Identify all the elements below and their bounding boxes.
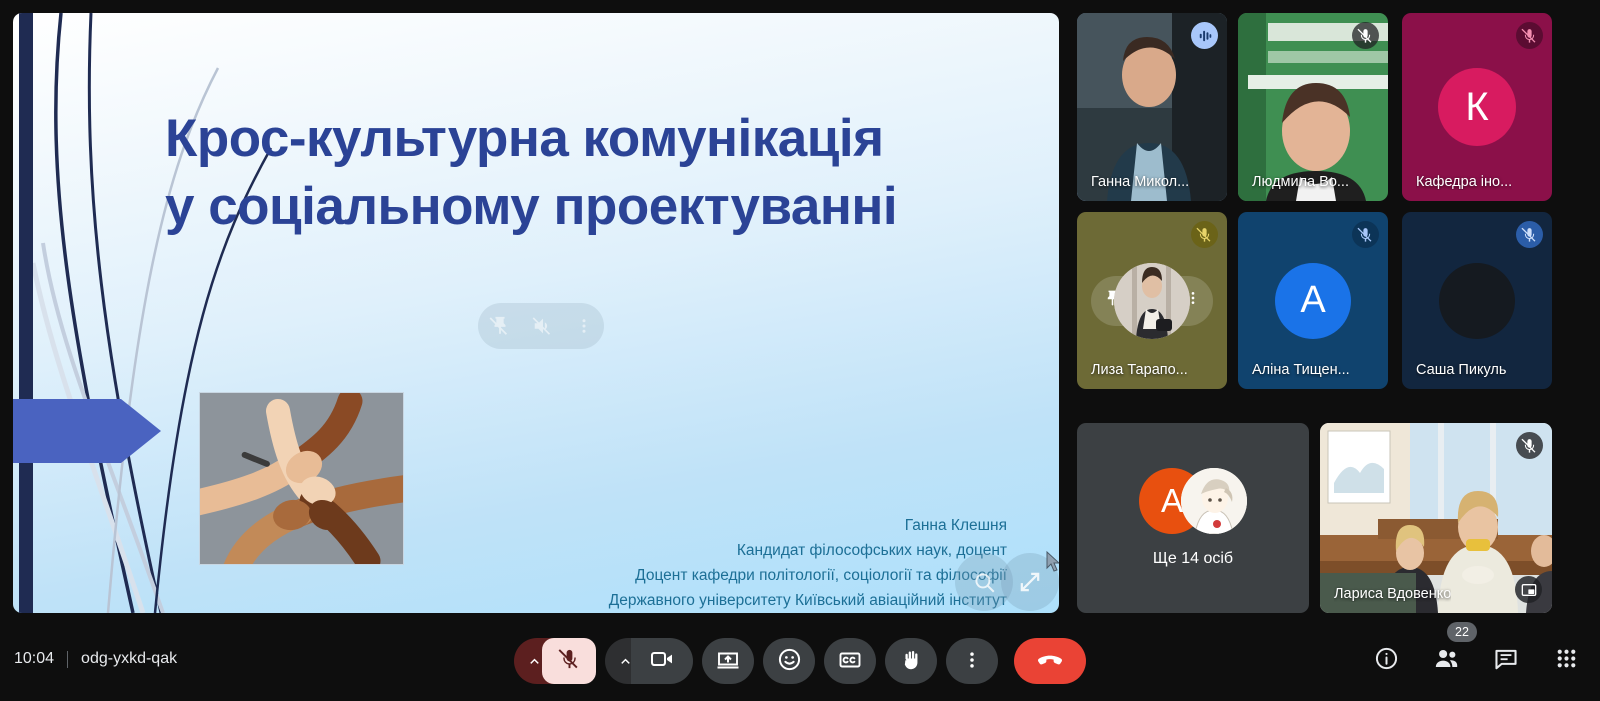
present-screen-icon (716, 648, 740, 675)
picture-in-picture-icon[interactable] (1515, 576, 1542, 603)
participant-name: Кафедра іно... (1416, 174, 1512, 190)
avatar: К (1438, 68, 1516, 146)
mic-off-icon (1352, 22, 1379, 49)
byline-line-2: Кандидат філософських наук, доцент (447, 538, 1007, 563)
participant-tile[interactable]: К Кафедра іно... (1402, 13, 1552, 201)
overflow-label: Ще 14 осіб (1153, 550, 1233, 568)
participant-tile[interactable]: Саша Пикуль (1402, 212, 1552, 389)
byline-line-1: Ганна Клешня (447, 513, 1007, 538)
participant-tile[interactable]: Ганна Микол... (1077, 13, 1227, 201)
present-screen-button[interactable] (702, 638, 754, 684)
camera-control-group[interactable] (605, 638, 693, 684)
bottom-right-icons: 22 (1370, 645, 1582, 677)
google-meet-window: Крос-культурна комунікація у соціальному… (0, 0, 1600, 701)
shared-screen-stage[interactable]: Крос-культурна комунікація у соціальному… (13, 13, 1059, 613)
participant-name: Людмила Во... (1252, 174, 1349, 190)
participant-tile[interactable]: Лиза Тарапо... (1077, 212, 1227, 389)
avatar-letter: К (1465, 85, 1488, 130)
more-options-button[interactable] (946, 638, 998, 684)
raise-hand-button[interactable] (885, 638, 937, 684)
avatar (1439, 263, 1515, 339)
video-camera-icon (650, 647, 674, 676)
audio-level-icon (1191, 22, 1218, 49)
meeting-details-button[interactable] (1370, 645, 1402, 677)
call-controls (514, 638, 1086, 684)
bottom-control-bar: 10:04 odg-yxkd-qak (0, 621, 1600, 701)
microphone-control-group[interactable] (514, 638, 596, 684)
avatar-letter: А (1300, 279, 1325, 322)
captions-button[interactable] (824, 638, 876, 684)
participant-name: Лариса Вдовенко (1334, 586, 1451, 602)
participant-name: Лиза Тарапо... (1091, 362, 1188, 378)
info-icon (1374, 646, 1399, 676)
activities-button[interactable] (1550, 645, 1582, 677)
slide-byline: Ганна Клешня Кандидат філософських наук,… (447, 513, 1007, 613)
slide-left-bar (19, 13, 33, 613)
mic-off-icon (1191, 221, 1218, 248)
overflow-avatars: А (1139, 468, 1247, 534)
participant-name: Аліна Тищен... (1252, 362, 1350, 378)
microphone-toggle-button[interactable] (542, 638, 596, 684)
byline-line-4: Державного університету Київський авіаці… (447, 588, 1007, 613)
participant-tile[interactable]: А Аліна Тищен... (1238, 212, 1388, 389)
mic-off-icon (1516, 22, 1543, 49)
emoji-reaction-icon (777, 647, 802, 675)
chat-icon (1493, 646, 1519, 677)
avatar-letter: А (1161, 482, 1183, 520)
more-vert-icon (962, 650, 982, 673)
closed-captions-icon (838, 648, 862, 675)
slide-arrow-shape (13, 395, 163, 467)
camera-toggle-button[interactable] (631, 638, 693, 684)
people-panel-button[interactable]: 22 (1430, 645, 1462, 677)
participant-tile[interactable]: Лариса Вдовенко (1320, 423, 1552, 613)
mouse-cursor (1046, 551, 1059, 573)
participant-count-badge: 22 (1447, 622, 1477, 642)
meeting-time: 10:04 (14, 650, 54, 668)
participant-filmstrip: Ганна Микол... Людмила (1073, 13, 1588, 613)
pin-off-icon[interactable] (489, 315, 511, 337)
overflow-participants-tile[interactable]: А Ще 14 осіб (1077, 423, 1309, 613)
divider (67, 651, 68, 668)
byline-line-3: Доцент кафедри політології, соціології т… (447, 563, 1007, 588)
mic-off-icon (1516, 432, 1543, 459)
end-call-button[interactable] (1014, 638, 1086, 684)
people-icon (1433, 645, 1460, 677)
emoji-reaction-button[interactable] (763, 638, 815, 684)
hands-photo (199, 392, 404, 565)
mic-off-icon (558, 647, 581, 675)
mic-off-icon (1516, 221, 1543, 248)
slide-title-line-2: у соціальному проектуванні (165, 173, 995, 241)
slide-title: Крос-культурна комунікація у соціальному… (165, 105, 995, 241)
participant-name: Ганна Микол... (1091, 174, 1189, 190)
meeting-code: odg-yxkd-qak (81, 650, 177, 668)
participant-tile[interactable]: Людмила Во... (1238, 13, 1388, 201)
participant-name: Саша Пикуль (1416, 362, 1506, 378)
slide-title-line-1: Крос-культурна комунікація (165, 105, 995, 173)
avatar (1181, 468, 1247, 534)
mic-off-icon (1352, 221, 1379, 248)
meeting-info: 10:04 odg-yxkd-qak (14, 650, 177, 668)
chat-panel-button[interactable] (1490, 645, 1522, 677)
more-vert-icon[interactable] (575, 317, 593, 335)
avatar: А (1275, 263, 1351, 339)
raise-hand-icon (899, 647, 924, 675)
end-call-icon (1035, 645, 1065, 678)
avatar (1114, 263, 1190, 339)
presentation-hover-controls[interactable] (478, 303, 604, 349)
volume-off-icon[interactable] (532, 315, 554, 337)
apps-grid-icon (1554, 646, 1579, 676)
